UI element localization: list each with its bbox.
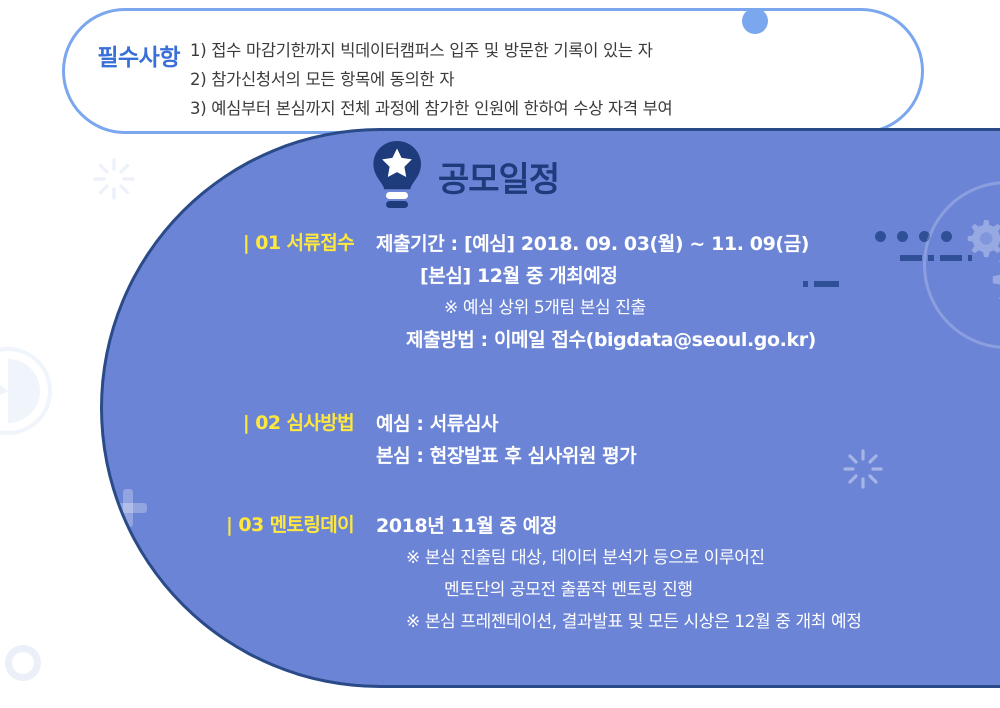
schedule-row-body: 예심 : 서류심사 본심 : 현장발표 후 심사위원 평가 bbox=[376, 408, 636, 472]
schedule-line: 멘토단의 공모전 출품작 멘토링 진행 bbox=[376, 574, 861, 606]
schedule-line: 예심 : 서류심사 bbox=[376, 408, 636, 440]
pie-chart-icon bbox=[0, 345, 54, 437]
requirements-list: 1) 접수 마감기한까지 빅데이터캠퍼스 입주 및 방문한 기록이 있는 자 2… bbox=[190, 36, 890, 123]
dot-marker-icon bbox=[742, 8, 768, 34]
plus-icon bbox=[109, 489, 147, 527]
poster-canvas: 필수사항 1) 접수 마감기한까지 빅데이터캠퍼스 입주 및 방문한 기록이 있… bbox=[0, 0, 1000, 708]
schedule-line: 2018년 11월 중 예정 bbox=[376, 510, 861, 542]
sparkle-icon bbox=[843, 449, 883, 489]
schedule-line: [본심] 12월 중 개최예정 bbox=[376, 260, 816, 292]
requirements-label: 필수사항 bbox=[80, 38, 180, 72]
list-item: 1) 접수 마감기한까지 빅데이터캠퍼스 입주 및 방문한 기록이 있는 자 bbox=[190, 36, 890, 65]
gear-icon bbox=[948, 206, 1000, 326]
schedule-row-body: 제출기간 : [예심] 2018. 09. 03(월) ~ 11. 09(금) … bbox=[376, 228, 816, 356]
schedule-line: 본심 : 현장발표 후 심사위원 평가 bbox=[376, 440, 636, 472]
lightbulb-star-icon bbox=[370, 140, 424, 212]
schedule-line: ※ 본심 프레젠테이션, 결과발표 및 모든 시상은 12월 중 개최 예정 bbox=[376, 606, 861, 638]
schedule-line: 제출기간 : [예심] 2018. 09. 03(월) ~ 11. 09(금) bbox=[376, 228, 816, 260]
page-title-group: 공모일정 bbox=[370, 140, 559, 212]
schedule-row-label: | 01 서류접수 bbox=[208, 228, 358, 356]
schedule-row-03: | 03 멘토링데이 2018년 11월 중 예정 ※ 본심 진출팀 대상, 데… bbox=[208, 510, 861, 638]
schedule-line: ※ 예심 상위 5개팀 본심 진출 bbox=[376, 292, 816, 324]
schedule-row-label: | 02 심사방법 bbox=[208, 408, 358, 472]
schedule-row-label: | 03 멘토링데이 bbox=[208, 510, 358, 638]
list-item: 3) 예심부터 본심까지 전체 과정에 참가한 인원에 한하여 수상 자격 부여 bbox=[190, 94, 890, 123]
schedule-line: ※ 본심 진출팀 대상, 데이터 분석가 등으로 이루어진 bbox=[376, 542, 861, 574]
schedule-line: 제출방법 : 이메일 접수(bigdata@seoul.go.kr) bbox=[376, 324, 816, 356]
schedule-row-body: 2018년 11월 중 예정 ※ 본심 진출팀 대상, 데이터 분석가 등으로 … bbox=[376, 510, 861, 638]
sparkle-icon bbox=[93, 158, 135, 200]
page-title: 공모일정 bbox=[438, 152, 559, 201]
schedule-row-01: | 01 서류접수 제출기간 : [예심] 2018. 09. 03(월) ~ … bbox=[208, 228, 816, 356]
schedule-row-02: | 02 심사방법 예심 : 서류심사 본심 : 현장발표 후 심사위원 평가 bbox=[208, 408, 636, 472]
circle-outline-icon bbox=[5, 645, 41, 681]
list-item: 2) 참가신청서의 모든 항목에 동의한 자 bbox=[190, 65, 890, 94]
